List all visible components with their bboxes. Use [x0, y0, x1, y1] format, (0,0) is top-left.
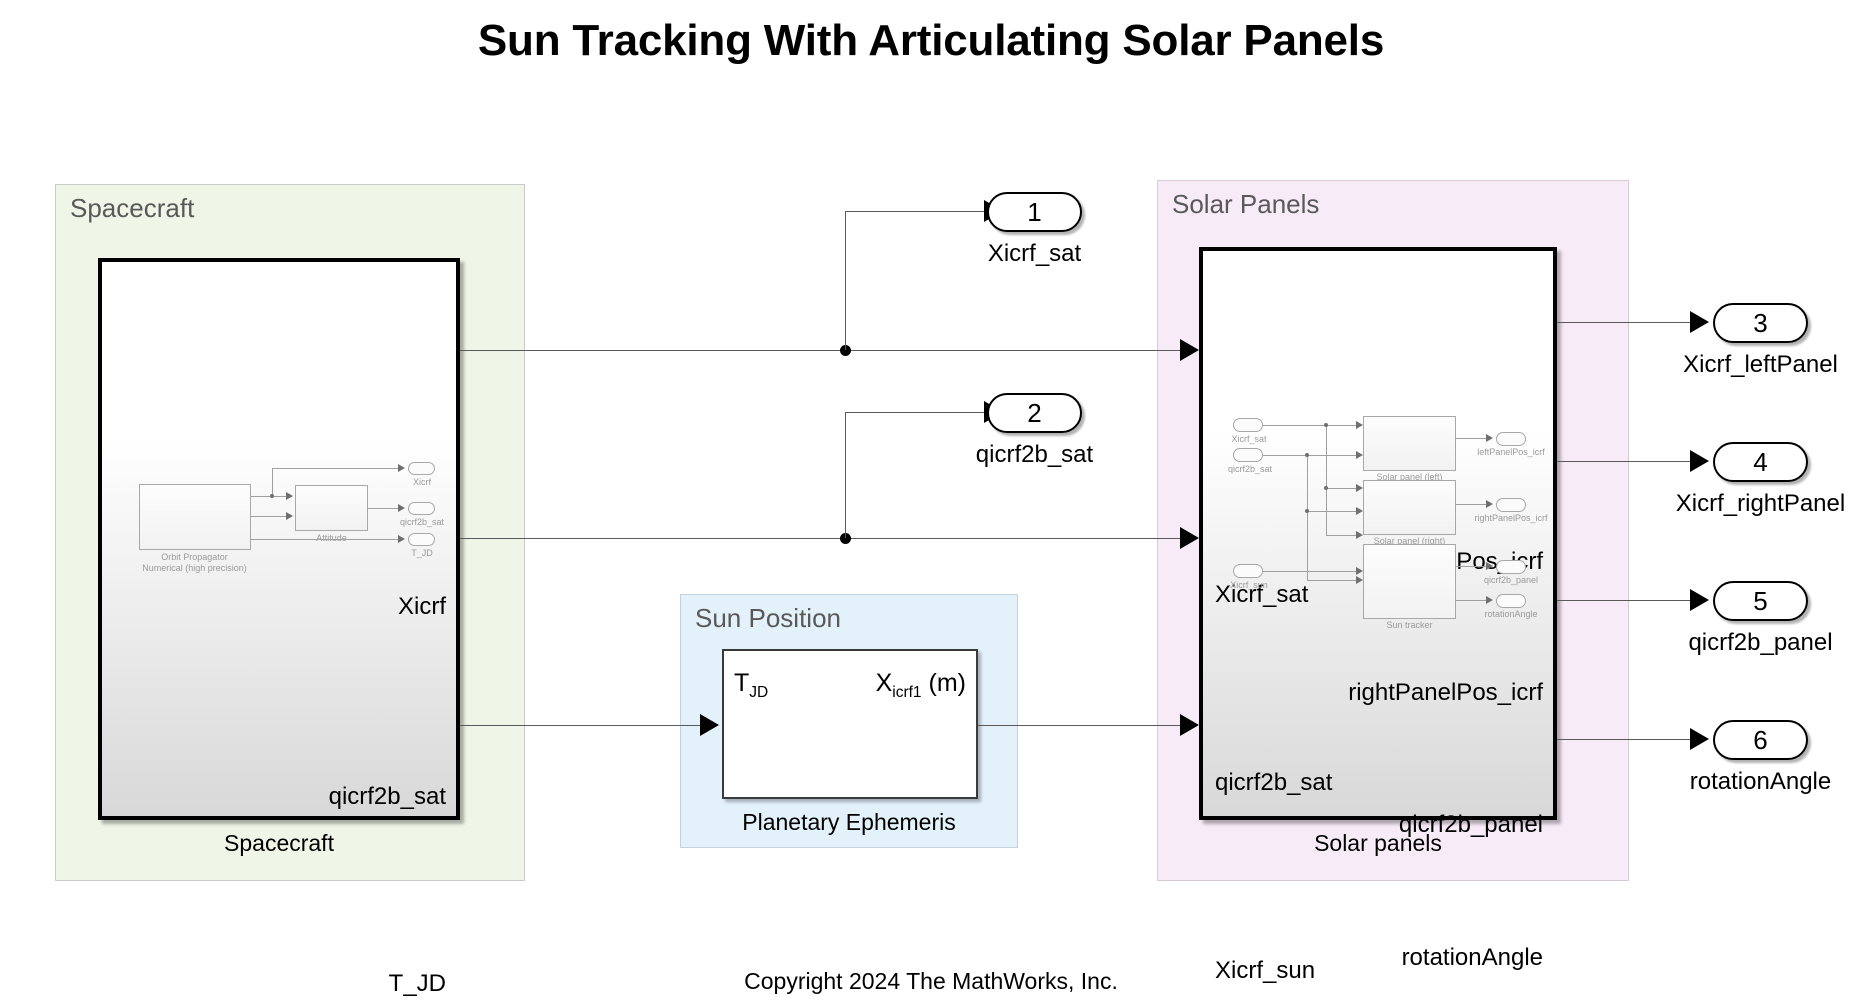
outport-6[interactable]: 6 [1713, 720, 1808, 760]
signal-line-xicrf-branch-vertical [845, 211, 846, 350]
mini-outport-rotationangle [1496, 594, 1526, 608]
spacecraft-mini-diagram: Orbit Propagator Numerical (high precisi… [132, 452, 452, 582]
mini-arrow [1356, 484, 1363, 492]
mini-arrow [398, 535, 405, 543]
mini-arrow [1356, 531, 1363, 539]
signal-line-xicrf [460, 350, 1186, 351]
outport-4-number: 4 [1753, 447, 1767, 478]
mini-outport-label-qicrf2b-panel: qicrf2b_panel [1475, 575, 1547, 585]
mini-block-sun-tracker [1363, 544, 1456, 619]
arrow-to-ephemeris-input [700, 714, 719, 736]
signal-line-xicrf-sun [978, 725, 1186, 726]
mini-wire [1307, 511, 1361, 512]
page-title: Sun Tracking With Articulating Solar Pan… [0, 16, 1862, 66]
mini-wire [272, 468, 273, 497]
mini-arrow [1356, 507, 1363, 515]
mini-junction [1324, 423, 1328, 427]
mini-block-attitude [295, 485, 368, 531]
signal-line-xicrf-branch-horizontal [845, 211, 988, 212]
mini-arrow [286, 492, 293, 500]
outport-1[interactable]: 1 [987, 192, 1082, 232]
mini-arrow [1486, 596, 1493, 604]
outport-4-label: Xicrf_rightPanel [1648, 490, 1862, 518]
mini-inport-xicrf-sun [1233, 564, 1263, 578]
mini-inport-qicrf2b-sat [1233, 448, 1263, 462]
ephemeris-output-name: X [876, 669, 893, 697]
planetary-ephemeris-block[interactable]: TJD Xicrf1 (m) [722, 649, 978, 799]
mini-wire [1307, 580, 1361, 581]
mini-junction [1305, 509, 1309, 513]
signal-line-qicrf2b-sat [460, 538, 1186, 539]
mini-label-orbit-propagator-line1: Orbit Propagator [127, 552, 262, 562]
copyright-text: Copyright 2024 The MathWorks, Inc. [0, 968, 1862, 995]
mini-junction [1305, 453, 1309, 457]
mini-inport-xicrf-sat [1233, 418, 1263, 432]
outport-2-number: 2 [1027, 398, 1041, 429]
solar-panels-area-title: Solar Panels [1172, 189, 1319, 220]
signal-line-rotationangle [1557, 739, 1695, 740]
arrow-to-outport-3 [1690, 311, 1709, 333]
outport-5-number: 5 [1753, 586, 1767, 617]
signal-line-leftpanelpos [1557, 322, 1695, 323]
solarpanels-outport-label-rightpanelpos: rightPanelPos_icrf [1213, 679, 1543, 707]
mini-junction [1324, 486, 1328, 490]
mini-inport-label-xicrf-sun: Xicrf_sun [1223, 580, 1275, 590]
mini-wire [251, 539, 403, 540]
signal-line-qicrf2b-branch-horizontal [845, 412, 988, 413]
outport-1-number: 1 [1027, 197, 1041, 228]
mini-outport-t-jd [408, 533, 435, 546]
solar-panels-subsystem-block[interactable]: Xicrf_sat qicrf2b_sat Xicrf_sun leftPane… [1199, 247, 1557, 820]
mini-arrow [398, 464, 405, 472]
mini-outport-label-rotationangle: rotationAngle [1475, 609, 1547, 619]
mini-arrow [398, 504, 405, 512]
mini-block-solar-panel-right [1363, 480, 1456, 535]
signal-line-rightpanelpos [1557, 461, 1695, 462]
mini-wire [272, 468, 403, 469]
planetary-ephemeris-block-label: Planetary Ephemeris [680, 809, 1018, 836]
outport-5[interactable]: 5 [1713, 581, 1808, 621]
mini-outport-qicrf2b-sat [408, 502, 435, 515]
mini-junction [270, 494, 274, 498]
signal-line-qicrf2b-panel [1557, 600, 1695, 601]
spacecraft-block-label: Spacecraft [98, 830, 460, 857]
arrow-to-solarpanels-xicrf-sat [1180, 339, 1199, 361]
spacecraft-area-title: Spacecraft [70, 193, 194, 224]
mini-outport-leftpanelpos [1496, 432, 1526, 446]
mini-inport-label-qicrf2b-sat: qicrf2b_sat [1219, 464, 1281, 474]
mini-wire [1307, 455, 1361, 456]
simulink-diagram-canvas: Sun Tracking With Articulating Solar Pan… [0, 0, 1862, 1008]
mini-wire [1326, 425, 1327, 535]
mini-arrow [1356, 421, 1363, 429]
outport-5-label: qicrf2b_panel [1648, 629, 1862, 657]
mini-outport-label-qicrf2b-sat: qicrf2b_sat [394, 517, 450, 527]
mini-outport-label-xicrf: Xicrf [398, 477, 446, 487]
mini-arrow [286, 512, 293, 520]
spacecraft-outport-label-xicrf: Xicrf [196, 593, 446, 621]
outport-2-label: qicrf2b_sat [937, 441, 1132, 469]
solarpanels-inport-label-qicrf2b-sat: qicrf2b_sat [1215, 769, 1332, 797]
outport-2[interactable]: 2 [987, 393, 1082, 433]
mini-block-solar-panel-left [1363, 416, 1456, 471]
arrow-to-solarpanels-xicrf-sun [1180, 714, 1199, 736]
mini-label-orbit-propagator-line2: Numerical (high precision) [127, 563, 262, 573]
outport-3-number: 3 [1753, 308, 1767, 339]
mini-outport-label-leftpanelpos: leftPanelPos_icrf [1473, 447, 1549, 457]
signal-line-t-jd [460, 725, 703, 726]
ephemeris-input-label: TJD [734, 669, 768, 702]
ephemeris-output-unit: (m) [929, 669, 966, 697]
solar-panels-block-label: Solar panels [1199, 830, 1557, 857]
outport-6-number: 6 [1753, 725, 1767, 756]
spacecraft-outport-label-qicrf2b-sat: qicrf2b_sat [196, 783, 446, 811]
signal-line-qicrf2b-branch-vertical [845, 412, 846, 538]
sun-position-area-title: Sun Position [695, 603, 841, 634]
arrow-to-outport-6 [1690, 728, 1709, 750]
mini-outport-label-t-jd: T_JD [398, 548, 446, 558]
outport-4[interactable]: 4 [1713, 442, 1808, 482]
mini-block-orbit-propagator [139, 484, 251, 550]
outport-1-label: Xicrf_sat [937, 240, 1132, 268]
mini-wire [1263, 425, 1328, 426]
mini-arrow [1356, 567, 1363, 575]
mini-wire [1263, 571, 1328, 572]
mini-outport-xicrf [408, 462, 435, 475]
mini-arrow [1356, 451, 1363, 459]
arrow-to-outport-4 [1690, 450, 1709, 472]
arrow-to-solarpanels-qicrf2b-sat [1180, 527, 1199, 549]
mini-outport-qicrf2b-panel [1496, 560, 1526, 574]
outport-3[interactable]: 3 [1713, 303, 1808, 343]
spacecraft-subsystem-block[interactable]: Orbit Propagator Numerical (high precisi… [98, 258, 460, 820]
mini-arrow [1486, 500, 1493, 508]
outport-6-label: rotationAngle [1648, 768, 1862, 796]
arrow-to-outport-5 [1690, 589, 1709, 611]
mini-label-sun-tracker: Sun tracker [1363, 620, 1456, 630]
mini-wire [1307, 455, 1308, 580]
mini-wire [1263, 455, 1308, 456]
mini-inport-label-xicrf-sat: Xicrf_sat [1223, 434, 1275, 444]
mini-arrow [1356, 576, 1363, 584]
solar-panels-mini-diagram: Xicrf_sat qicrf2b_sat Xicrf_sun [1225, 416, 1545, 646]
ephemeris-input-name: T [734, 669, 749, 697]
mini-outport-label-rightpanelpos: rightPanelPos_icrf [1471, 513, 1551, 523]
ephemeris-input-subscript: JD [749, 684, 768, 701]
mini-arrow [1486, 434, 1493, 442]
mini-arrow [1486, 562, 1493, 570]
outport-3-label: Xicrf_leftPanel [1648, 351, 1862, 379]
mini-outport-rightpanelpos [1496, 498, 1526, 512]
ephemeris-output-subscript: icrf1 [892, 684, 921, 701]
ephemeris-output-label: Xicrf1 (m) [876, 669, 966, 702]
